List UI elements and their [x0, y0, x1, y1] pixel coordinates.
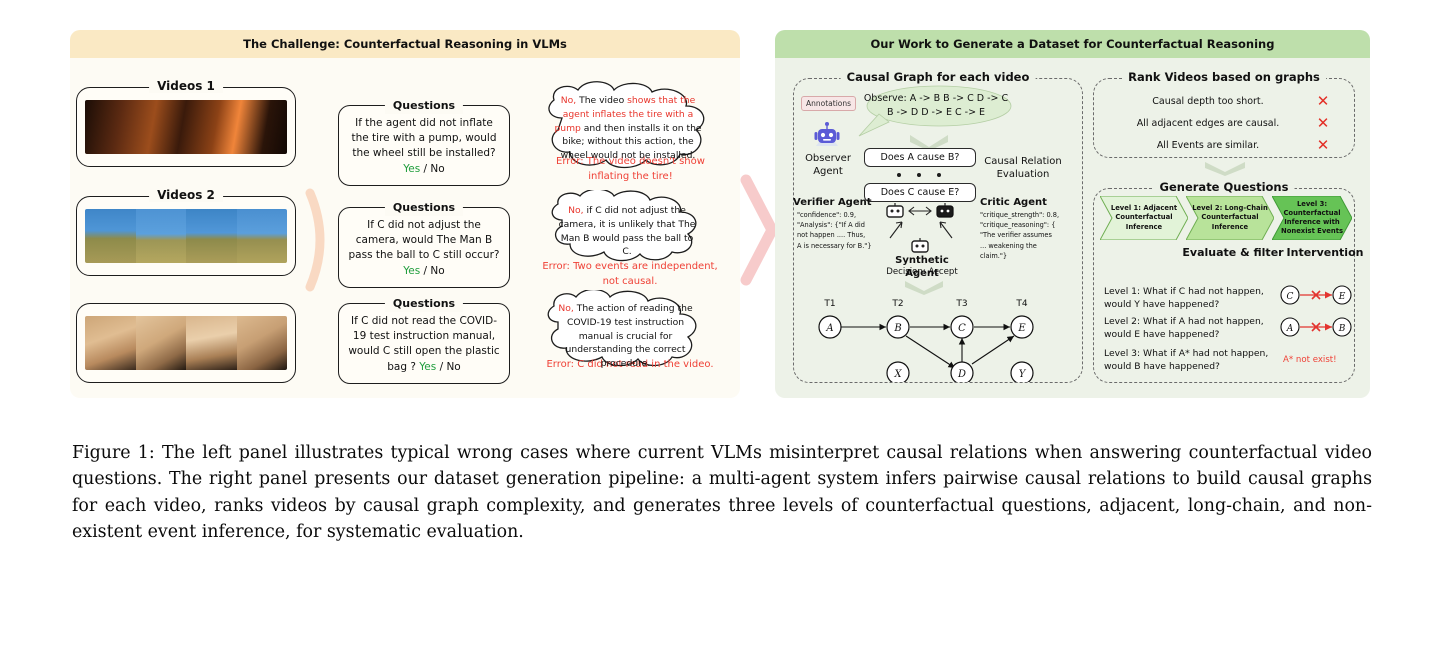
- svg-text:B: B: [893, 323, 901, 334]
- answer-cloud-1: No, The video shows that the agent infla…: [528, 80, 728, 172]
- answer-body-1a: The video: [576, 95, 627, 106]
- rank-row-1: Causal depth too short. ✕: [1110, 92, 1340, 110]
- rank-row-2: All adjacent edges are causal. ✕: [1110, 114, 1340, 132]
- generate-questions-legend: Generate Questions: [1154, 180, 1295, 194]
- answer-body-3a: The action of reading the COVID-19 test …: [566, 303, 693, 369]
- svg-text:A: A: [1286, 324, 1294, 334]
- video-card-1: Videos 1: [76, 87, 296, 167]
- figure-1: The Challenge: Counterfactual Reasoning …: [0, 0, 1436, 420]
- level-2-question: Level 2: What if A had not happen, would…: [1104, 316, 1274, 342]
- level-3-chevron: Level 3: Counterfactual Inference with N…: [1272, 196, 1352, 240]
- level-1-chevron: Level 1: Adjacent Counterfactual Inferen…: [1100, 196, 1188, 240]
- svg-text:T4: T4: [1015, 299, 1027, 309]
- answer-cloud-3-text: No, The action of reading the COVID-19 t…: [528, 290, 723, 383]
- evaluate-filter-header: Evaluate & filter: [1178, 246, 1288, 260]
- answer-yes-1: Yes: [403, 163, 420, 175]
- answer-sep-2: / No: [420, 265, 445, 277]
- svg-text:T1: T1: [823, 299, 835, 309]
- verifier-robot-icon: [886, 203, 904, 218]
- video-card-3: [76, 303, 296, 383]
- causal-relation-evaluation-label: Causal Relation Evaluation: [978, 155, 1068, 181]
- question-card-2-text: If C did not adjust the camera, would Th…: [349, 219, 500, 261]
- rank-row-3-text: All Events are similar.: [1110, 140, 1306, 151]
- observe-line-1: Observe: A -> B B -> C D -> C: [862, 92, 1010, 106]
- svg-text:C: C: [958, 323, 966, 334]
- svg-text:E: E: [1338, 292, 1346, 302]
- level-1-label: Level 1: Adjacent Counterfactual Inferen…: [1100, 196, 1188, 240]
- answer-cloud-2-text: No, if C did not adjust the camera, it i…: [532, 190, 722, 273]
- video-card-1-label: Videos 1: [149, 79, 223, 93]
- answer-cloud-1-text: No, The video shows that the agent infla…: [528, 80, 728, 177]
- rank-videos-legend: Rank Videos based on graphs: [1122, 70, 1326, 84]
- observer-agent-label: Observer Agent: [795, 152, 861, 178]
- answer-sep-1: / No: [420, 163, 445, 175]
- answer-yes-3: Yes: [419, 361, 436, 373]
- question-card-3: Questions If C did not read the COVID-19…: [338, 303, 510, 384]
- left-panel-title: The Challenge: Counterfactual Reasoning …: [70, 30, 740, 58]
- svg-text:A: A: [825, 323, 833, 334]
- intervention-diagram-1: C E: [1280, 284, 1352, 306]
- answer-no-3: No,: [558, 303, 573, 314]
- rank-row-2-mark: ✕: [1306, 114, 1340, 132]
- annotations-tag: Annotations: [801, 96, 856, 111]
- observe-text: Observe: A -> B B -> C D -> C B -> D D -…: [862, 92, 1010, 120]
- video-thumbnail-1: [85, 100, 287, 154]
- video-thumbnail-2: [85, 209, 287, 263]
- verifier-agent-json: "confidence": 0.9, "Analysis": {"If A di…: [797, 210, 881, 251]
- video-card-2: Videos 2: [76, 196, 296, 276]
- exchange-arrow-icon: [908, 206, 932, 216]
- svg-text:E: E: [1017, 323, 1026, 334]
- rank-row-3-mark: ✕: [1306, 136, 1340, 154]
- rank-row-2-text: All adjacent edges are causal.: [1110, 118, 1306, 129]
- answer-cloud-3: No, The action of reading the COVID-19 t…: [528, 290, 723, 368]
- answer-no-1: No,: [561, 95, 576, 106]
- question-card-3-legend: Questions: [385, 296, 463, 312]
- video-card-2-label: Videos 2: [149, 188, 223, 202]
- critic-agent-json: "critique_strength": 0.8, "critique_reas…: [980, 210, 1072, 261]
- question-card-2-legend: Questions: [385, 200, 463, 216]
- verifier-agent-label: Verifier Agent: [793, 196, 883, 209]
- svg-text:D: D: [957, 369, 966, 380]
- intervention-header: Intervention: [1285, 246, 1365, 260]
- right-panel-title: Our Work to Generate a Dataset for Count…: [775, 30, 1370, 58]
- level-3-label: Level 3: Counterfactual Inference with N…: [1272, 196, 1352, 240]
- svg-text:C: C: [1287, 292, 1294, 302]
- rank-row-3: All Events are similar. ✕: [1110, 136, 1340, 154]
- level-2-chevron: Level 2: Long-Chain Counterfactual Infer…: [1186, 196, 1274, 240]
- observer-agent-icon: [812, 118, 842, 150]
- svg-text:B: B: [1338, 324, 1346, 334]
- rank-row-1-text: Causal depth too short.: [1110, 96, 1306, 107]
- level-1-question: Level 1: What if C had not happen, would…: [1104, 286, 1274, 312]
- ellipsis-dots: [897, 173, 941, 177]
- answer-no-2: No,: [568, 205, 583, 216]
- causal-dag: T1 T2 T3 T4 AB CE XDY: [800, 292, 1078, 382]
- causal-graph-legend: Causal Graph for each video: [841, 70, 1036, 84]
- figure-caption: Figure 1: The left panel illustrates typ…: [72, 440, 1372, 546]
- observe-line-2: B -> D D -> E C -> E: [862, 106, 1010, 120]
- svg-text:X: X: [893, 369, 902, 380]
- synthetic-decision-label: Decision: Accept: [882, 267, 962, 278]
- level-3-question: Level 3: What if A* had not happen, woul…: [1104, 348, 1274, 374]
- question-card-1: Questions If the agent did not inflate t…: [338, 105, 510, 186]
- question-card-1-text: If the agent did not inflate the tire wi…: [351, 117, 496, 159]
- rank-row-1-mark: ✕: [1306, 92, 1340, 110]
- nonexist-note: A* not exist!: [1283, 355, 1363, 365]
- video-thumbnail-3: [85, 316, 287, 370]
- svg-text:T2: T2: [891, 299, 903, 309]
- causal-question-box-1: Does A cause B?: [864, 148, 976, 167]
- intervention-diagram-2: A B: [1280, 316, 1352, 338]
- critic-robot-icon: [936, 203, 954, 218]
- answer-sep-3: / No: [436, 361, 461, 373]
- level-2-label: Level 2: Long-Chain Counterfactual Infer…: [1186, 196, 1274, 240]
- synthetic-flow-arrows: [886, 218, 956, 242]
- question-card-2: Questions If C did not adjust the camera…: [338, 207, 510, 288]
- svg-text:T3: T3: [955, 299, 967, 309]
- answer-body-1b: and then installs it on the bike; withou…: [561, 123, 702, 162]
- answer-yes-2: Yes: [403, 265, 420, 277]
- flow-arrow-down-3: [1203, 160, 1247, 176]
- critic-agent-label: Critic Agent: [980, 196, 1060, 209]
- answer-cloud-2: No, if C did not adjust the camera, it i…: [532, 190, 722, 262]
- question-card-1-legend: Questions: [385, 98, 463, 114]
